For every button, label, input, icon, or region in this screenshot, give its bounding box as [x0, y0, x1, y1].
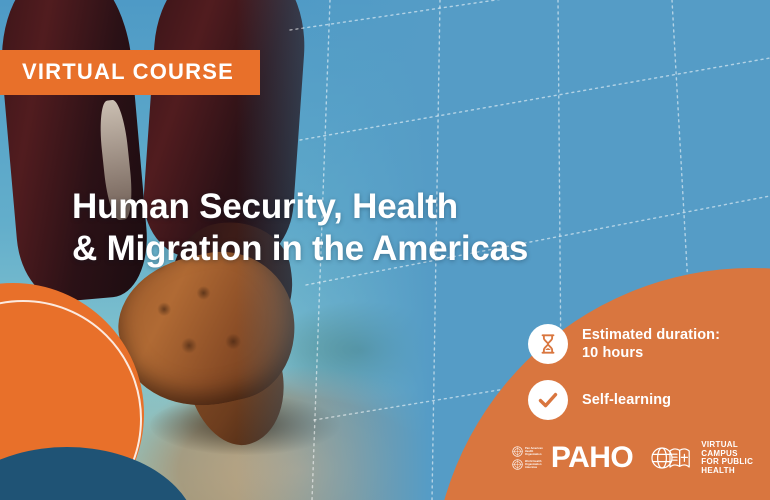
badge-label: VIRTUAL COURSE: [22, 61, 234, 83]
paho-seal-icon: [512, 446, 523, 457]
course-title: Human Security, Health & Migration in th…: [72, 186, 612, 269]
info-duration-line2: 10 hours: [582, 345, 643, 361]
paho-emblem-top: Pan American Health Organization: [512, 446, 543, 457]
info-item-duration-label: Estimated duration: 10 hours: [582, 326, 720, 362]
info-duration-line1: Estimated duration:: [582, 327, 720, 343]
check-circle-icon: [528, 380, 568, 420]
virtual-campus-text: VIRTUAL CAMPUS FOR PUBLIC HEALTH: [701, 441, 753, 475]
paho-emblem-bottom-text: World Health Organization Americas: [525, 460, 542, 469]
info-item-duration: Estimated duration: 10 hours: [528, 324, 758, 364]
virtual-course-badge: VIRTUAL COURSE: [0, 50, 260, 95]
course-promo-banner: VIRTUAL COURSE Human Security, Health & …: [0, 0, 770, 500]
course-info-list: Estimated duration: 10 hours Self-learni…: [528, 324, 758, 436]
course-title-line2: & Migration in the Americas: [72, 228, 612, 270]
info-item-self-learning: Self-learning: [528, 380, 758, 420]
paho-emblems: Pan American Health Organization World H…: [512, 445, 543, 471]
paho-wordmark: PAHO: [551, 443, 633, 473]
paho-logo: Pan American Health Organization World H…: [512, 443, 633, 473]
paho-emblem-bottom: World Health Organization Americas: [512, 459, 543, 470]
info-item-self-learning-label: Self-learning: [582, 391, 671, 409]
globe-book-icon: [650, 442, 696, 474]
paho-emblem-bottom-line3: Americas: [525, 466, 542, 469]
who-seal-icon: [512, 459, 523, 470]
paho-emblem-top-line3: Organization: [525, 453, 543, 456]
course-title-line1: Human Security, Health: [72, 187, 458, 226]
hourglass-icon: [528, 324, 568, 364]
logo-lockup: Pan American Health Organization World H…: [512, 441, 753, 475]
vcph-line4: HEALTH: [701, 467, 753, 476]
virtual-campus-logo: VIRTUAL CAMPUS FOR PUBLIC HEALTH: [650, 441, 753, 475]
paho-emblem-top-text: Pan American Health Organization: [525, 447, 543, 456]
